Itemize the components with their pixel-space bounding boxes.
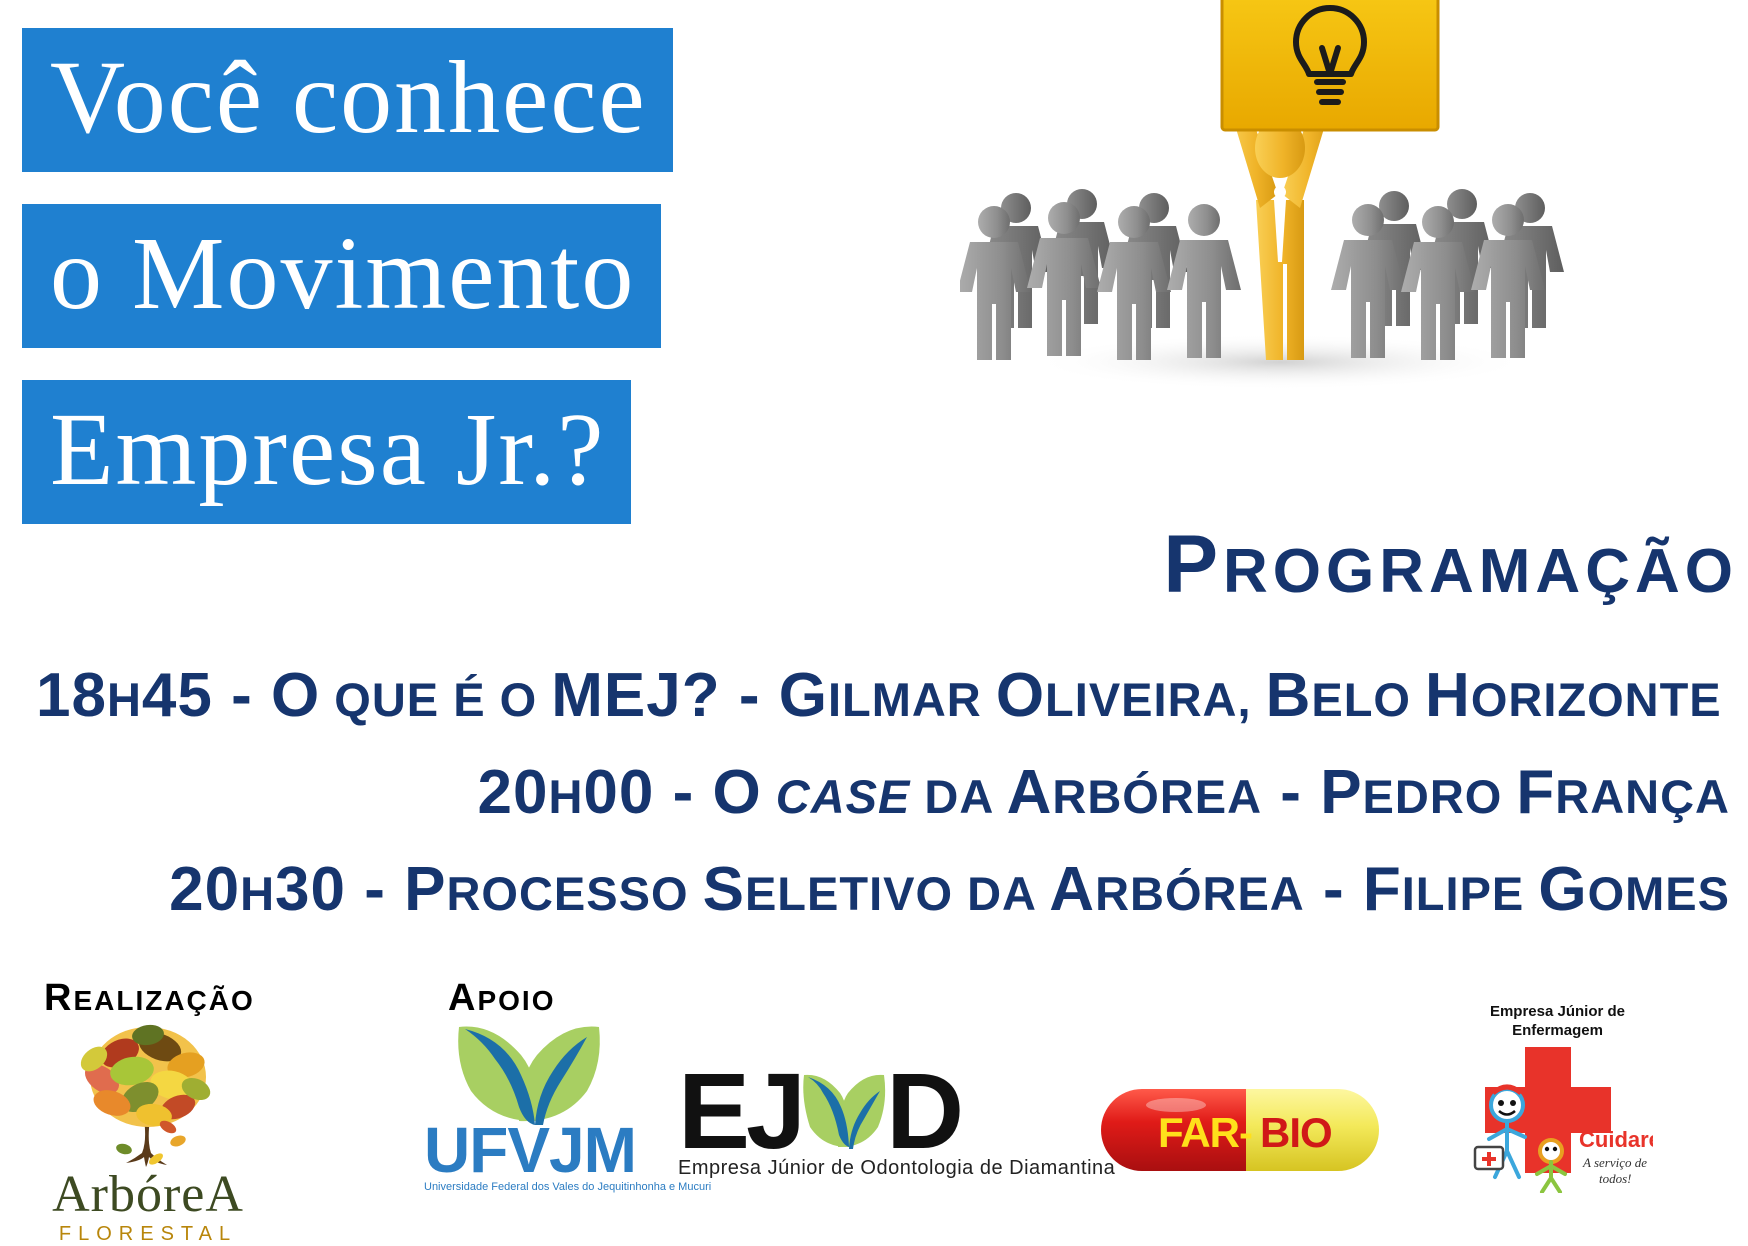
- schedule-3-title-rest: ROCESSO: [446, 867, 702, 920]
- schedule-item-3: 20H30 - PROCESSO SELETIVO DA ARBÓREA - F…: [0, 854, 1748, 925]
- realizacao-rest: EALIZAÇÃO: [73, 985, 254, 1016]
- logo-farbio: FAR- BIO: [1090, 1075, 1390, 1185]
- crowd-leader-illustration: [960, 0, 1580, 394]
- red-cross-icon: Cuidare A serviço de todos!: [1463, 1043, 1653, 1193]
- ejod-letter-d: D: [886, 1068, 960, 1154]
- schedule-1-speaker-rest2: LIVEIRA,: [1045, 673, 1266, 726]
- cuidare-title-line2: Enfermagem: [1440, 1022, 1675, 1041]
- headline-line-1: Você conhece: [22, 28, 673, 172]
- schedule-1-title-cap2: MEJ: [551, 661, 681, 730]
- farbio-text-right: BIO: [1260, 1109, 1332, 1156]
- cuidare-tagline-1: A serviço de: [1582, 1155, 1647, 1170]
- schedule-3-speaker-rest2: OMES: [1588, 867, 1730, 920]
- schedule-3-dash: -: [346, 855, 404, 924]
- schedule-3-time-hour: 20: [169, 855, 240, 924]
- schedule-2-speaker-rest: EDRO: [1363, 770, 1517, 823]
- cuidare-title-line1: Empresa Júnior de: [1440, 1003, 1675, 1022]
- schedule-1-dash: -: [213, 661, 271, 730]
- schedule-2-title-italic: CASE: [762, 770, 925, 823]
- schedule-3-time-min: 30: [275, 855, 346, 924]
- realizacao-first-letter: R: [44, 977, 73, 1019]
- schedule-3-title-cap2: S: [703, 855, 745, 924]
- schedule-3-org-cap: A: [1049, 855, 1095, 924]
- cuidare-brand: Cuidare: [1579, 1127, 1653, 1152]
- ejod-letter-j: J: [746, 1068, 802, 1154]
- headline-line-3: Empresa Jr.?: [22, 380, 631, 524]
- apoio-rest: POIO: [477, 985, 555, 1016]
- schedule-item-2: 20H00 - O CASE DA ARBÓREA - PEDRO FRANÇA: [0, 757, 1748, 828]
- programacao-rest: ROGRAMAÇÃO: [1223, 537, 1738, 606]
- schedule-2-time-h: H: [548, 770, 583, 823]
- page-title-programacao: PROGRAMAÇÃO: [1163, 518, 1738, 612]
- leader-figure: [1228, 94, 1332, 360]
- logo-ejod: E J D Empresa Júnior de Odontologia de D…: [678, 1067, 1060, 1207]
- schedule-3-title-tail: -: [1305, 855, 1363, 924]
- apoio-first-letter: A: [448, 977, 477, 1019]
- schedule-1-speaker-cap: G: [779, 661, 828, 730]
- cuidare-tagline-2: todos!: [1599, 1171, 1632, 1186]
- ufvjm-wordmark: UFVJM: [424, 1120, 634, 1181]
- schedule-3-title-rest2: ELETIVO DA: [745, 867, 1049, 920]
- headline-line-2: o Movimento: [22, 204, 661, 348]
- logo-ufvjm: UFVJM Universidade Federal dos Vales do …: [424, 1021, 634, 1221]
- schedule-1-city-rest2: ORIZONTE: [1471, 673, 1722, 726]
- schedule-1-time-h: H: [107, 673, 142, 726]
- schedule-3-org-rest: RBÓREA: [1095, 867, 1305, 920]
- schedule-1-time-min: 45: [142, 661, 213, 730]
- ejod-letter-e: E: [678, 1068, 746, 1154]
- schedule-2-speaker-cap2: F: [1516, 758, 1555, 827]
- label-apoio: APOIO: [448, 977, 555, 1020]
- schedule-1-city-cap2: H: [1425, 661, 1471, 730]
- schedule-1-speaker-rest: ILMAR: [828, 673, 996, 726]
- schedule-1-city-cap: B: [1266, 661, 1312, 730]
- idea-sign: [1222, 0, 1438, 130]
- schedule-2-org-cap: A: [1007, 758, 1053, 827]
- schedule-2-time-min: 00: [583, 758, 654, 827]
- schedule-3-speaker-cap: F: [1363, 855, 1402, 924]
- schedule-3-speaker-cap2: G: [1538, 855, 1587, 924]
- autumn-tree-icon: [28, 1023, 268, 1173]
- footer-logos: REALIZAÇÃO APOIO: [0, 955, 1748, 1240]
- leaf-river-icon: [449, 1021, 609, 1126]
- schedule-2-title-cap: O: [712, 758, 761, 827]
- schedule-1-time-hour: 18: [36, 661, 107, 730]
- capsule-pill-icon: FAR- BIO: [1090, 1075, 1390, 1185]
- schedule-2-title-rest: DA: [924, 770, 1006, 823]
- schedule-2-org-rest: RBÓREA: [1052, 770, 1262, 823]
- ufvjm-subtitle: Universidade Federal dos Vales do Jequit…: [424, 1181, 634, 1193]
- schedule-2-title-tail: -: [1262, 758, 1320, 827]
- schedule-3-speaker-rest: ILIPE: [1402, 867, 1539, 920]
- schedule-1-title-cap: O: [271, 661, 320, 730]
- ejod-wordmark-row: E J D: [678, 1067, 1060, 1155]
- cuidare-title: Empresa Júnior de Enfermagem: [1440, 1003, 1675, 1041]
- schedule-1-title-tail: ? -: [682, 661, 779, 730]
- logo-arborea: ArbóreA FLORESTAL: [28, 1023, 268, 1238]
- schedule-1-speaker-cap2: O: [996, 661, 1045, 730]
- schedule-2-speaker-cap: P: [1320, 758, 1362, 827]
- schedule-list: 18H45 - O QUE É O MEJ? - GILMAR OLIVEIRA…: [0, 660, 1748, 951]
- ejod-subtitle: Empresa Júnior de Odontologia de Diamant…: [678, 1157, 1060, 1180]
- schedule-2-speaker-rest2: RANÇA: [1555, 770, 1730, 823]
- schedule-1-title-rest: QUE É O: [320, 673, 551, 726]
- label-realizacao: REALIZAÇÃO: [44, 977, 255, 1020]
- schedule-item-1: 18H45 - O QUE É O MEJ? - GILMAR OLIVEIRA…: [0, 660, 1748, 731]
- logo-cuidare: Empresa Júnior de Enfermagem: [1440, 1003, 1675, 1203]
- farbio-text-left: FAR-: [1158, 1109, 1252, 1156]
- arborea-subtitle: FLORESTAL: [28, 1223, 268, 1246]
- canopy-leaves: [76, 1023, 214, 1128]
- leaf-river-icon: [798, 1071, 890, 1151]
- schedule-1-city-rest: ELO: [1311, 673, 1425, 726]
- schedule-3-title-cap: P: [404, 855, 446, 924]
- arborea-wordmark: ArbóreA: [28, 1169, 268, 1221]
- schedule-2-dash: -: [654, 758, 712, 827]
- schedule-3-time-h: H: [240, 867, 275, 920]
- schedule-2-time-hour: 20: [477, 758, 548, 827]
- programacao-first-letter: P: [1163, 519, 1223, 610]
